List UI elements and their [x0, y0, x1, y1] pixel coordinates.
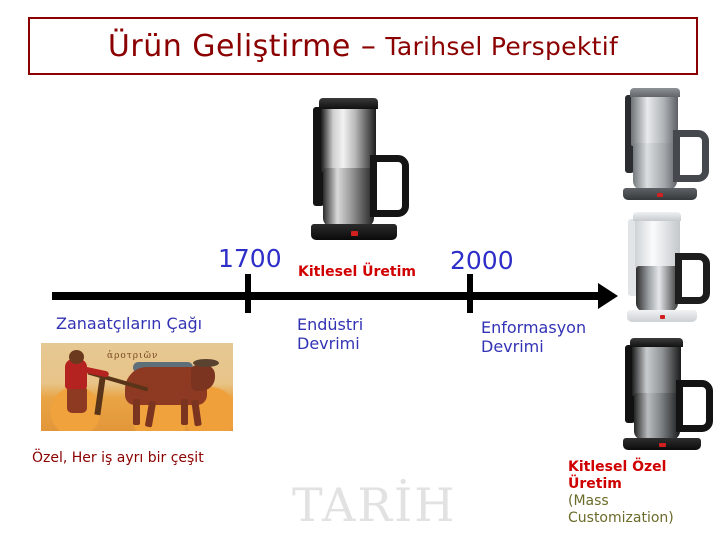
era-label-information-revolution: Enformasyon Devrimi	[481, 318, 586, 356]
power-button-icon	[351, 231, 358, 237]
timeline-tick-1700	[245, 274, 251, 313]
power-button-icon	[660, 315, 666, 319]
coffee-maker-water-tank	[321, 98, 376, 172]
page-title: Ürün Geliştirme –	[108, 29, 376, 64]
page-subtitle: Tarihsel Perspektif	[385, 32, 618, 61]
ox-horns	[193, 359, 219, 367]
ox-head	[191, 365, 215, 391]
farmer-head	[69, 350, 84, 364]
mass-customization-line-2: Üretim	[568, 476, 718, 493]
mass-customization-line-3: (Mass	[568, 493, 718, 510]
annotation-mass-customization: Kitlesel Özel Üretim (Mass Customization…	[568, 459, 718, 527]
era-label-craftsmen: Zanaatçıların Çağı	[56, 314, 202, 333]
ox-leg	[133, 399, 140, 425]
mass-customization-line-1: Kitlesel Özel	[568, 459, 718, 476]
coffee-maker-lid	[630, 88, 680, 97]
coffee-maker-carafe	[633, 143, 677, 190]
coffee-maker-lid	[633, 212, 681, 221]
slide-title-box: Ürün Geliştirme – Tarihsel Perspektif	[28, 17, 698, 75]
coffee-maker-lid	[319, 98, 378, 109]
annotation-craft-caption: Özel, Her iş ayrı bir çeşit	[32, 451, 204, 465]
coffee-maker-lid	[630, 338, 683, 347]
coffee-maker-carafe	[323, 168, 374, 228]
coffee-maker-handle	[676, 380, 713, 432]
coffee-maker-handle	[675, 253, 710, 304]
power-button-icon	[659, 443, 665, 447]
coffee-maker-dark-bottom-image	[618, 338, 706, 450]
coffee-maker-carafe	[634, 393, 680, 440]
watermark-tarih: TARİH	[292, 482, 456, 528]
annotation-mass-production: Kitlesel Üretim	[298, 265, 416, 279]
greek-caption-text: ἀροτριῶν	[107, 351, 158, 361]
coffee-maker-black-center-image	[305, 98, 403, 240]
coffee-maker-handle	[370, 155, 409, 217]
timeline-year-2000: 2000	[450, 248, 514, 273]
ox-leg	[181, 399, 188, 425]
timeline-arrowhead-icon	[598, 283, 618, 309]
coffee-maker-silver-top-image	[618, 88, 702, 200]
medieval-plowing-image: ἀροτριῶν	[41, 343, 233, 431]
timeline-axis	[52, 292, 600, 300]
farmer-legs	[67, 387, 87, 413]
mass-customization-line-4: Customization)	[568, 510, 718, 527]
coffee-maker-carafe	[636, 266, 678, 312]
power-button-icon	[657, 193, 663, 197]
era-label-industrial-revolution: Endüstri Devrimi	[297, 315, 363, 353]
plow-blade	[94, 377, 105, 415]
timeline-tick-2000	[467, 274, 473, 313]
timeline-year-1700: 1700	[218, 246, 282, 271]
coffee-maker-white-middle-image	[622, 212, 702, 322]
coffee-maker-handle	[673, 130, 709, 182]
